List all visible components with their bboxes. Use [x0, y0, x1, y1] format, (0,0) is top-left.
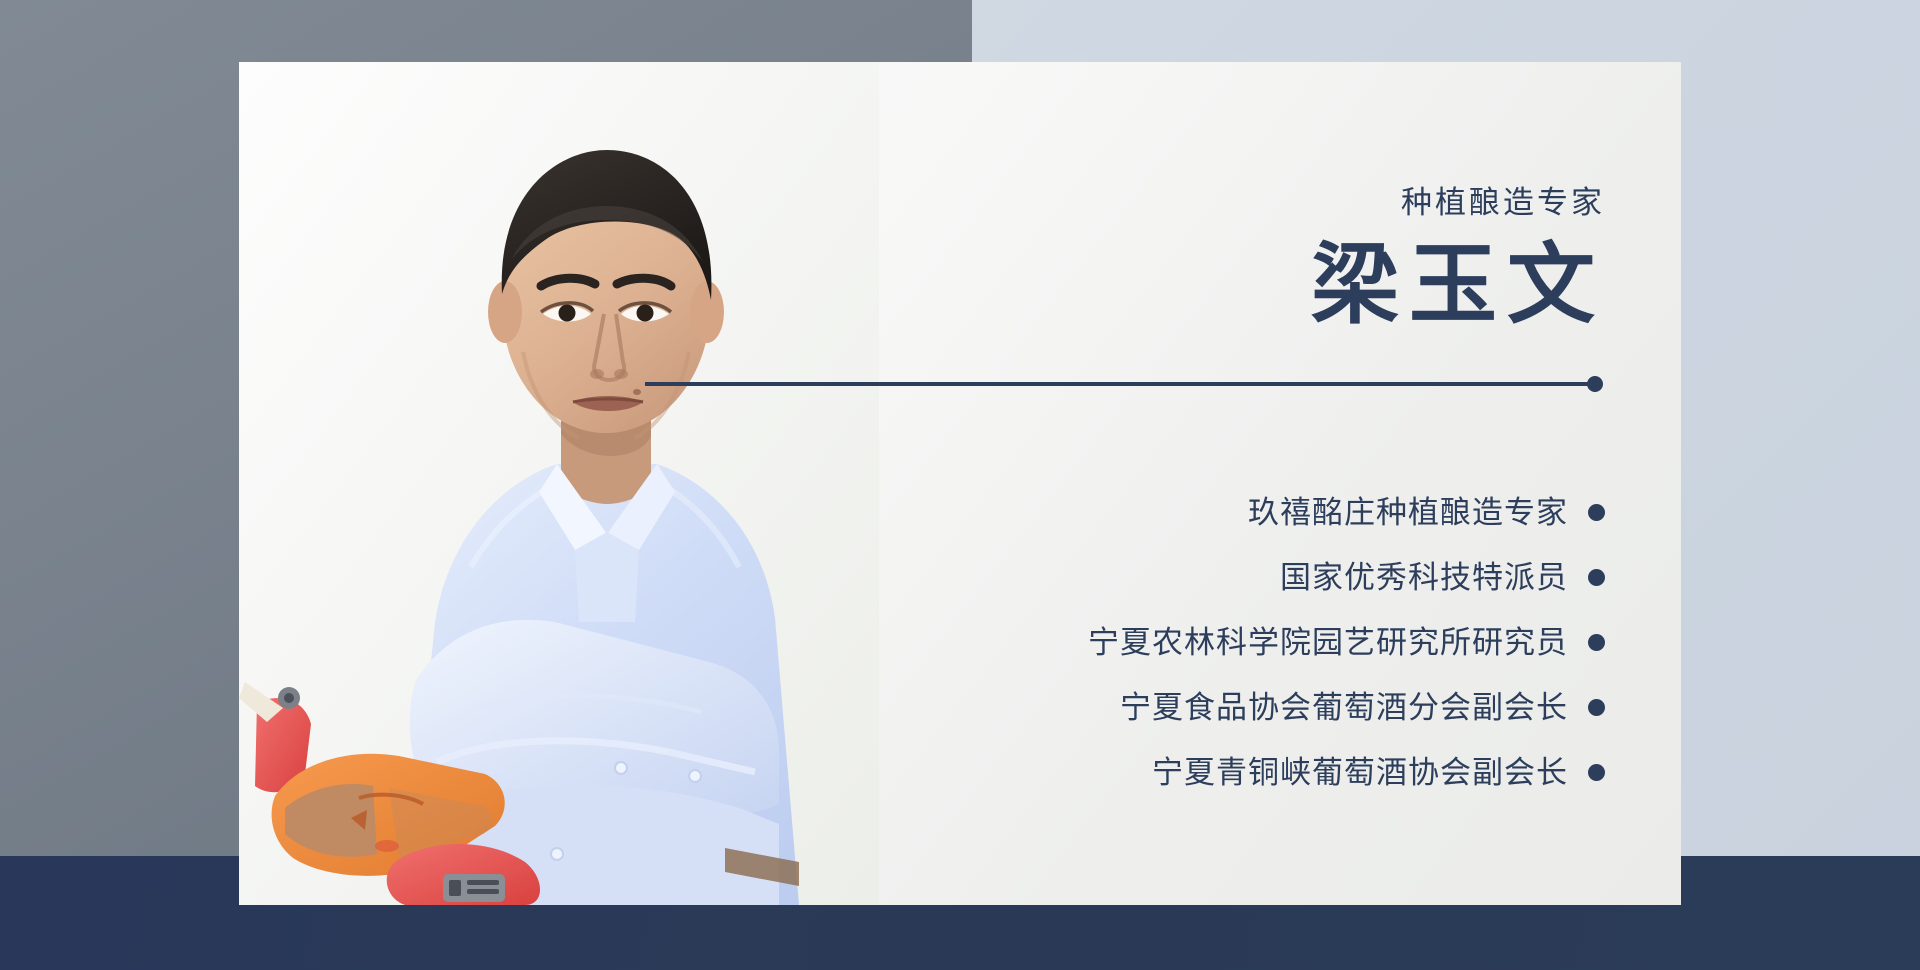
bullet-dot-icon — [1588, 764, 1605, 781]
credential-label: 宁夏青铜峡葡萄酒协会副会长 — [1152, 757, 1568, 788]
list-item: 国家优秀科技特派员 — [845, 550, 1605, 604]
profile-card: 种植酿造专家 梁玉文 玖禧酩庄种植酿造专家 国家优秀科技特派员 宁夏农林科学院园… — [239, 62, 1681, 905]
credential-label: 宁夏农林科学院园艺研究所研究员 — [1088, 627, 1568, 658]
profile-subtitle: 种植酿造专家 — [1401, 187, 1605, 218]
profile-text-column: 种植酿造专家 梁玉文 玖禧酩庄种植酿造专家 国家优秀科技特派员 宁夏农林科学院园… — [845, 62, 1605, 905]
credentials-list: 玖禧酩庄种植酿造专家 国家优秀科技特派员 宁夏农林科学院园艺研究所研究员 宁夏食… — [845, 485, 1605, 810]
portrait-photo — [239, 62, 879, 905]
divider-end-dot-icon — [1587, 376, 1603, 392]
list-item: 玖禧酩庄种植酿造专家 — [845, 485, 1605, 539]
bullet-dot-icon — [1588, 699, 1605, 716]
divider-rule — [645, 382, 1600, 386]
bullet-dot-icon — [1588, 634, 1605, 651]
credential-label: 国家优秀科技特派员 — [1280, 562, 1568, 593]
list-item: 宁夏食品协会葡萄酒分会副会长 — [845, 680, 1605, 734]
page-title: 梁玉文 — [1301, 232, 1605, 342]
list-item: 宁夏农林科学院园艺研究所研究员 — [845, 615, 1605, 669]
poster-canvas: 种植酿造专家 梁玉文 玖禧酩庄种植酿造专家 国家优秀科技特派员 宁夏农林科学院园… — [0, 0, 1920, 970]
credential-label: 玖禧酩庄种植酿造专家 — [1248, 497, 1568, 528]
bullet-dot-icon — [1588, 504, 1605, 521]
bullet-dot-icon — [1588, 569, 1605, 586]
list-item: 宁夏青铜峡葡萄酒协会副会长 — [845, 745, 1605, 799]
credential-label: 宁夏食品协会葡萄酒分会副会长 — [1120, 692, 1568, 723]
